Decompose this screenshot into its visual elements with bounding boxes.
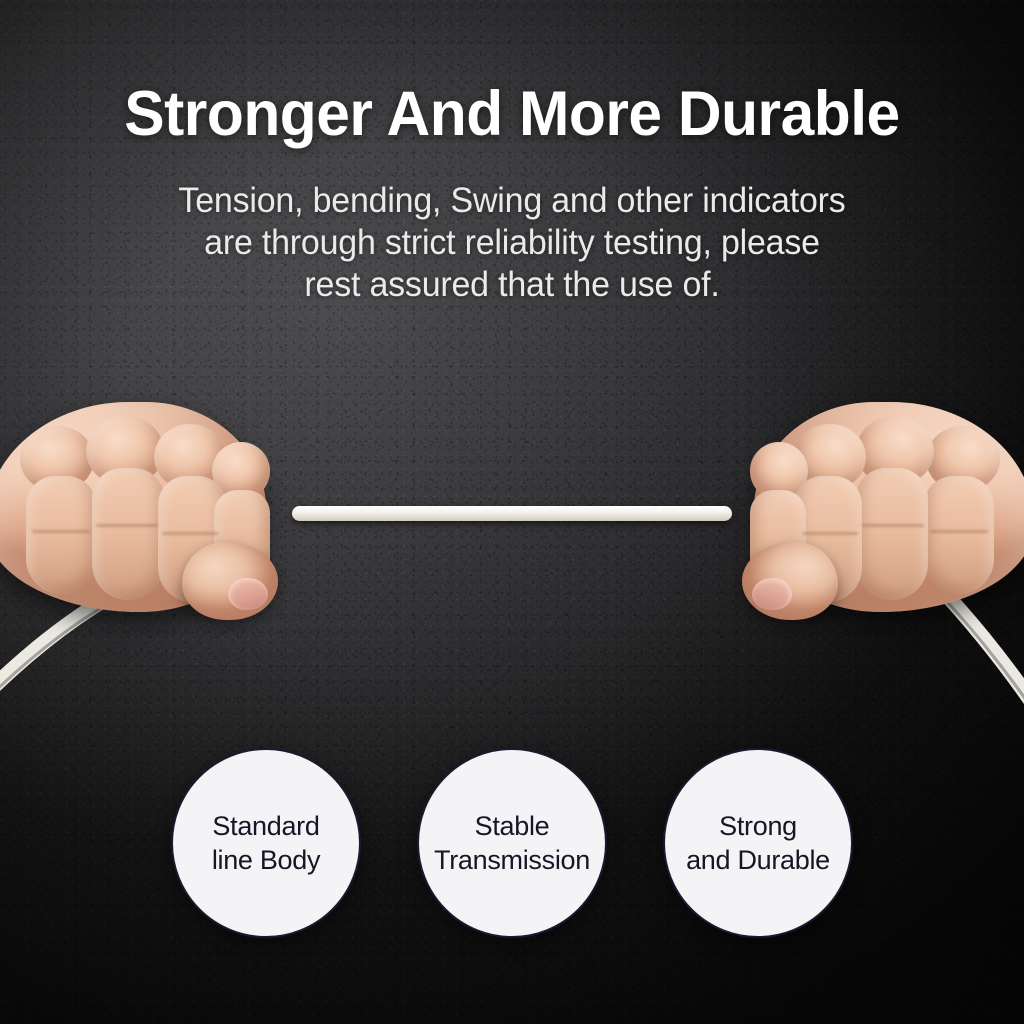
finger-crease bbox=[802, 532, 858, 535]
finger-crease bbox=[930, 530, 988, 533]
feature-badge-standard-line-body: Standard line Body bbox=[171, 748, 361, 938]
thumb bbox=[182, 542, 278, 620]
badge-label: Strong and Durable bbox=[686, 809, 830, 877]
right-hand bbox=[742, 392, 1024, 642]
feature-badge-stable-transmission: Stable Transmission bbox=[417, 748, 607, 938]
finger-crease bbox=[862, 524, 924, 527]
finger-crease bbox=[32, 530, 90, 533]
badge-line-2: and Durable bbox=[686, 843, 830, 877]
thumbnail bbox=[752, 578, 792, 610]
badge-line-1: Stable bbox=[434, 809, 590, 843]
badge-label: Stable Transmission bbox=[434, 809, 590, 877]
finger bbox=[856, 468, 928, 600]
product-feature-banner: Stronger And More Durable Tension, bendi… bbox=[0, 0, 1024, 1024]
thumb bbox=[742, 542, 838, 620]
badge-line-2: line Body bbox=[212, 843, 320, 877]
right-hand-palm bbox=[754, 402, 1024, 612]
finger bbox=[92, 468, 164, 600]
badge-line-1: Standard bbox=[212, 809, 320, 843]
thumbnail bbox=[228, 578, 268, 610]
finger-crease bbox=[162, 532, 218, 535]
cable-taut-segment bbox=[292, 506, 732, 521]
feature-badge-strong-and-durable: Strong and Durable bbox=[663, 748, 853, 938]
badge-line-1: Strong bbox=[686, 809, 830, 843]
finger bbox=[26, 476, 96, 594]
badge-label: Standard line Body bbox=[212, 809, 320, 877]
finger-crease bbox=[96, 524, 158, 527]
finger bbox=[924, 476, 994, 594]
feature-badge-list: Standard line Body Stable Transmission S… bbox=[0, 748, 1024, 938]
badge-line-2: Transmission bbox=[434, 843, 590, 877]
left-hand bbox=[0, 392, 278, 642]
left-hand-palm bbox=[0, 402, 266, 612]
